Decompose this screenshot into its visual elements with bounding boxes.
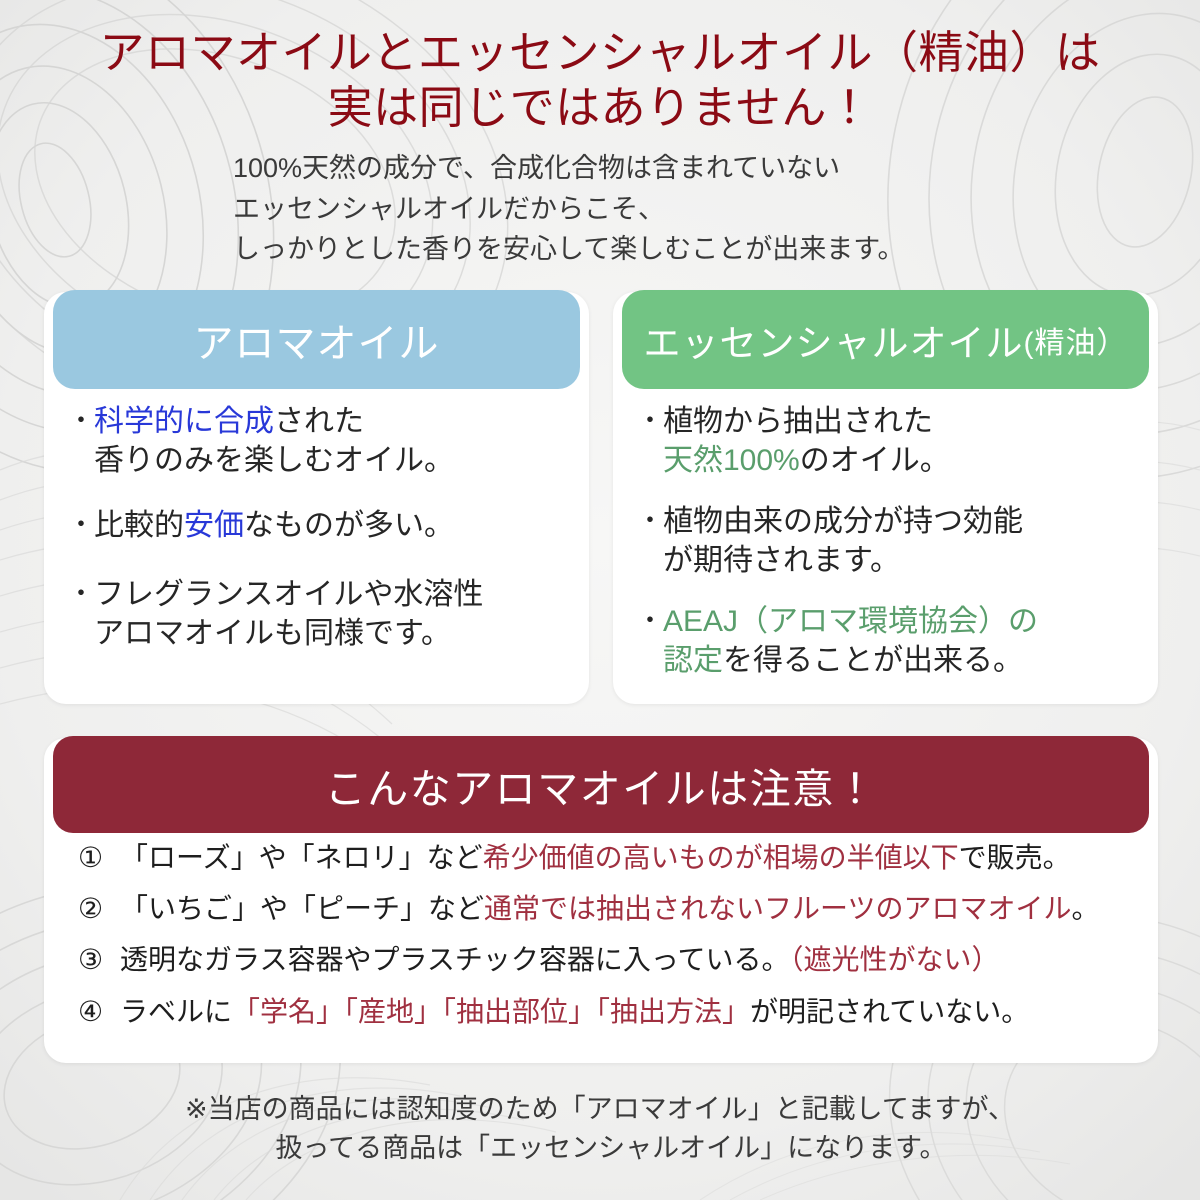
warning-list-item: ① 「ローズ」や「ネロリ」など希少価値の高いものが相場の半値以下で販売。 [78,842,1138,874]
bullet-dot-icon: ・ [68,575,94,613]
card-header-essential-oil-paren: (精油） [1024,318,1128,362]
comparison-card-aroma-oil: アロマオイル ・ 科学的に合成された 香りのみを楽しむオイル。 ・ 比較的安価な… [44,292,589,704]
comparison-card-essential-oil: エッセンシャルオイル(精油） ・ 植物から抽出された 天然100%のオイル。 ・… [613,292,1158,704]
card-header-essential-oil: エッセンシャルオイル(精油） [622,290,1149,389]
headline-line-1: アロマオイルとエッセンシャルオイル（精油）は [0,26,1200,81]
warning-number-1: ① [78,842,120,874]
warning-text-1: 「ローズ」や「ネロリ」など希少価値の高いものが相場の半値以下で販売。 [120,842,1138,874]
essential-bullet-1-text: 植物から抽出された 天然100%のオイル。 [663,402,1144,480]
lead-line-2: エッセンシャルオイルだからこそ、 [233,189,1033,230]
list-item: ・ 植物由来の成分が持つ効能 が期待されます。 [637,502,1144,580]
footnote-line-2: 扱ってる商品は「エッセンシャルオイル」になります。 [0,1129,1200,1168]
aroma-bullet-1-text: 科学的に合成された 香りのみを楽しむオイル。 [94,402,575,480]
essential-bullet-3-text: AEAJ（アロマ環境協会）の 認定を得ることが出来る。 [663,602,1144,680]
warning-number-4: ④ [78,996,120,1028]
headline-line-2: 実は同じではありません！ [0,81,1200,136]
bullet-dot-icon: ・ [637,402,663,440]
card-header-essential-oil-label: エッセンシャルオイル [644,313,1024,367]
bullet-dot-icon: ・ [68,402,94,440]
essential-oil-bullet-list: ・ 植物から抽出された 天然100%のオイル。 ・ 植物由来の成分が持つ効能 が… [637,396,1144,680]
lead-line-3: しっかりとした香りを安心して楽しむことが出来ます。 [233,229,1033,270]
lead-paragraph: 100%天然の成分で、合成化合物は含まれていない エッセンシャルオイルだからこそ… [233,148,1033,270]
warning-list-item: ④ ラベルに「学名」「産地」「抽出部位」「抽出方法」が明記されていない。 [78,996,1138,1028]
warning-card: こんなアロマオイルは注意！ ① 「ローズ」や「ネロリ」など希少価値の高いものが相… [44,738,1158,1063]
warning-list-item: ③ 透明なガラス容器やプラスチック容器に入っている。（遮光性がない） [78,944,1138,976]
bullet-dot-icon: ・ [68,506,94,544]
warning-list: ① 「ローズ」や「ネロリ」など希少価値の高いものが相場の半値以下で販売。 ② 「… [78,842,1138,1047]
page-title: アロマオイルとエッセンシャルオイル（精油）は 実は同じではありません！ [0,26,1200,136]
list-item: ・ AEAJ（アロマ環境協会）の 認定を得ることが出来る。 [637,602,1144,680]
bullet-dot-icon: ・ [637,502,663,540]
infographic-root: アロマオイルとエッセンシャルオイル（精油）は 実は同じではありません！ 100%… [0,0,1200,1200]
footnote-line-1: ※当店の商品には認知度のため「アロマオイル」と記載してますが、 [0,1090,1200,1129]
aroma-bullet-2-text: 比較的安価なものが多い。 [94,506,575,545]
warning-text-4: ラベルに「学名」「産地」「抽出部位」「抽出方法」が明記されていない。 [120,996,1138,1028]
warning-list-item: ② 「いちご」や「ピーチ」など通常では抽出されないフルーツのアロマオイル。 [78,893,1138,925]
list-item: ・ 科学的に合成された 香りのみを楽しむオイル。 [68,402,575,480]
footnote: ※当店の商品には認知度のため「アロマオイル」と記載してますが、 扱ってる商品は「… [0,1090,1200,1168]
warning-number-3: ③ [78,944,120,976]
card-header-aroma-oil-label: アロマオイル [194,311,440,369]
lead-line-1: 100%天然の成分で、合成化合物は含まれていない [233,148,1033,189]
list-item: ・ フレグランスオイルや水溶性 アロマオイルも同様です。 [68,575,575,653]
warning-banner-label: こんなアロマオイルは注意！ [325,755,878,815]
aroma-oil-bullet-list: ・ 科学的に合成された 香りのみを楽しむオイル。 ・ 比較的安価なものが多い。 … [68,396,575,653]
bullet-dot-icon: ・ [637,602,663,640]
aroma-bullet-3-text: フレグランスオイルや水溶性 アロマオイルも同様です。 [94,575,575,653]
list-item: ・ 植物から抽出された 天然100%のオイル。 [637,402,1144,480]
warning-banner: こんなアロマオイルは注意！ [53,736,1149,833]
warning-text-2: 「いちご」や「ピーチ」など通常では抽出されないフルーツのアロマオイル。 [120,893,1138,925]
warning-number-2: ② [78,893,120,925]
list-item: ・ 比較的安価なものが多い。 [68,506,575,545]
card-header-aroma-oil: アロマオイル [53,290,580,389]
essential-bullet-2-text: 植物由来の成分が持つ効能 が期待されます。 [663,502,1144,580]
warning-text-3: 透明なガラス容器やプラスチック容器に入っている。（遮光性がない） [120,944,1138,976]
